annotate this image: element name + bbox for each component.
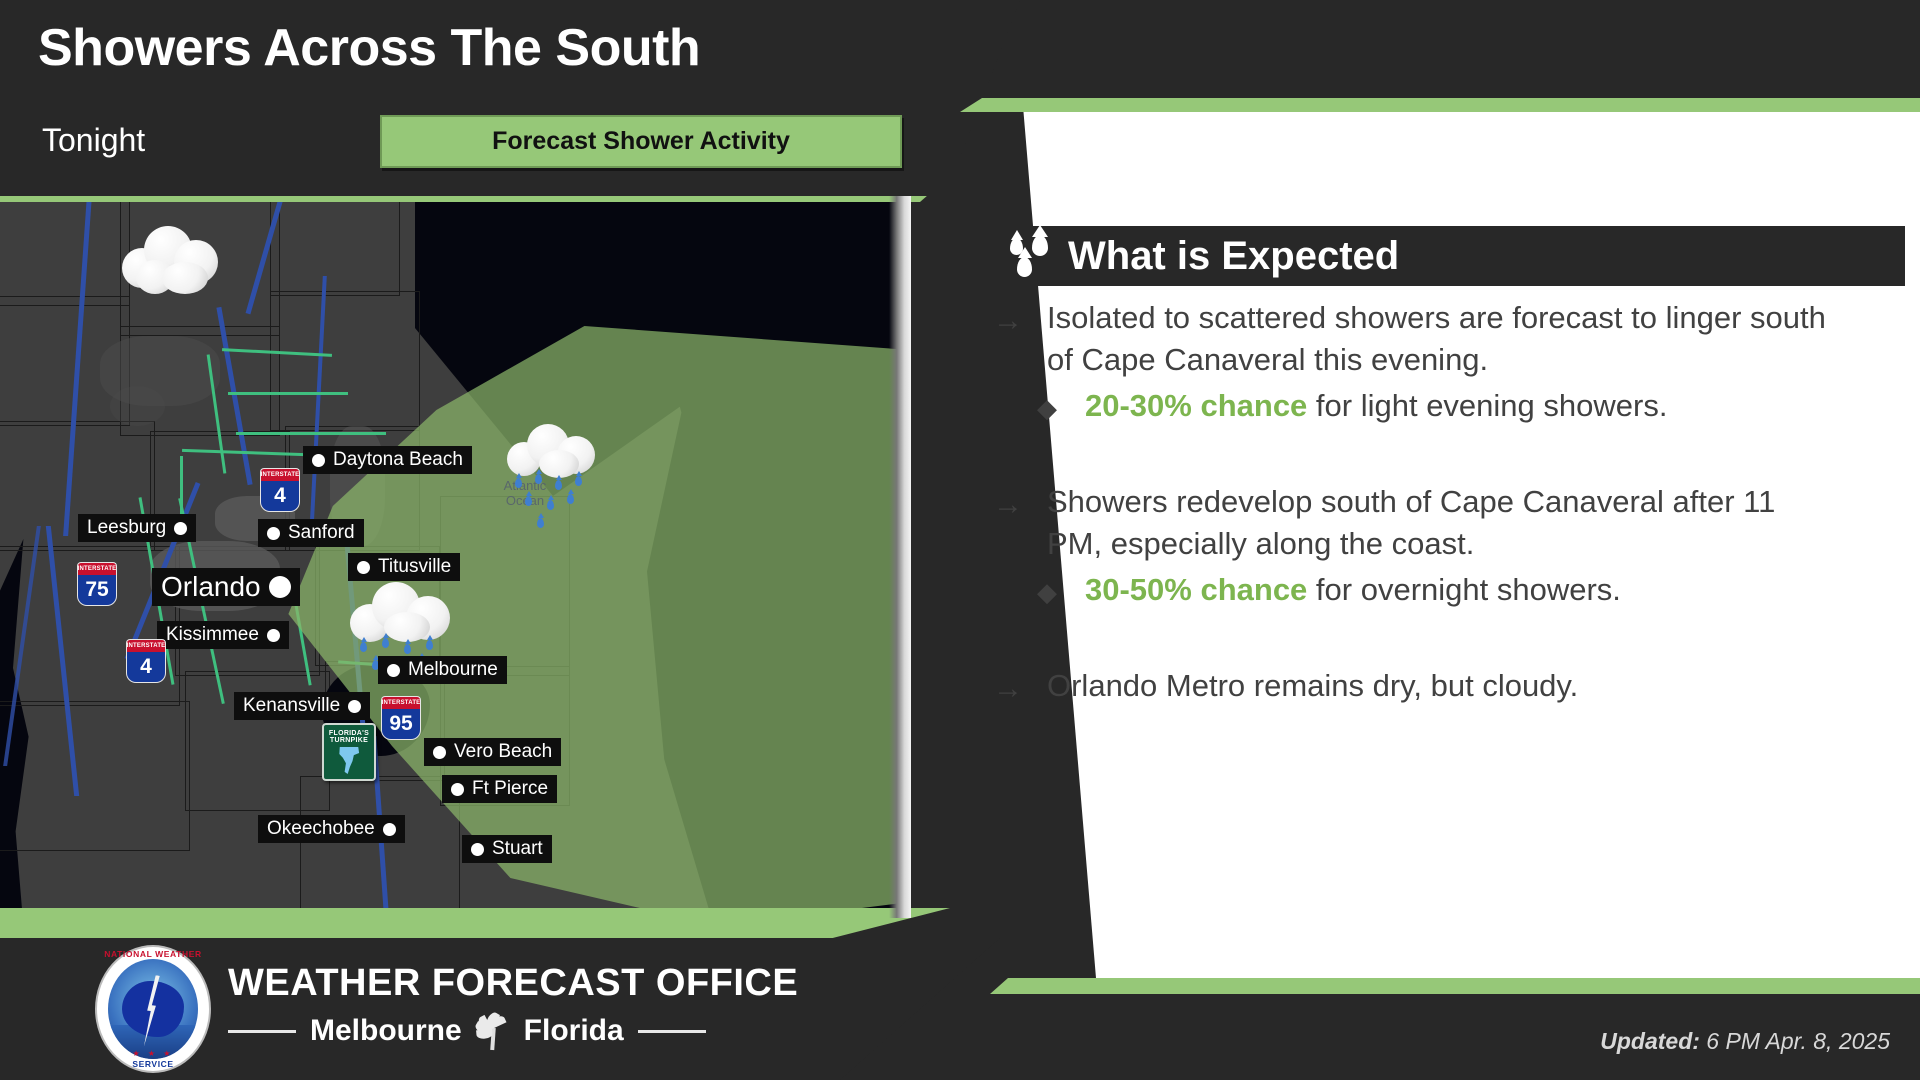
county-boundary: [270, 291, 420, 431]
expected-sub-bullet: ◆20-30% chance for light evening showers…: [993, 385, 1905, 429]
sub-bullet-text: 20-30% chance for light evening showers.: [1085, 385, 1667, 427]
rain-cloud-icon-okeechobee: [348, 574, 458, 652]
shield-banner: INTERSTATE: [126, 639, 166, 652]
cloud-icon-orlando: [118, 214, 228, 296]
county-boundary: [0, 196, 130, 306]
shield-banner: INTERSTATE: [77, 562, 117, 575]
city-label: Leesburg: [78, 514, 196, 542]
interstate-shield-95: INTERSTATE95: [379, 696, 423, 742]
shield-number: 4: [260, 481, 300, 512]
forecast-shower-activity-chip[interactable]: Forecast Shower Activity: [380, 115, 902, 168]
arrow-icon: →: [993, 297, 1047, 342]
page-title: Showers Across The South: [38, 18, 700, 78]
city-name: Vero Beach: [454, 741, 552, 763]
shield-number: 4: [126, 652, 166, 683]
city-marker-dot: [269, 576, 291, 598]
city-label: Orlando: [152, 568, 300, 606]
county-boundary: [0, 701, 190, 851]
toll-road-408: [228, 392, 348, 395]
city-name: Kissimmee: [166, 624, 259, 646]
office-city: Melbourne: [310, 1014, 462, 1048]
city-label: Kenansville: [234, 692, 370, 720]
city-marker-dot: [348, 700, 361, 713]
seal-bottom-text: SERVICE: [95, 1059, 211, 1069]
chance-percentage: 20-30% chance: [1085, 388, 1307, 423]
city-marker-dot: [267, 629, 280, 642]
turnpike-line-2: TURNPIKE: [330, 737, 368, 744]
lake-shading: [110, 386, 165, 426]
toll-road-528: [236, 432, 386, 435]
city-marker-dot: [387, 664, 400, 677]
office-location: Melbourne Florida: [228, 1012, 706, 1050]
city-label: Ft Pierce: [442, 775, 557, 803]
panel-green-top-bar: [960, 98, 1920, 112]
city-name: Daytona Beach: [333, 449, 463, 471]
interstate-shield-75: INTERSTATE75: [75, 562, 119, 608]
city-name: Leesburg: [87, 517, 166, 539]
shield-number: 95: [381, 709, 421, 740]
city-name: Orlando: [161, 571, 261, 603]
florida-turnpike-shield: FLORIDA'S TURNPIKE: [322, 723, 376, 781]
city-marker-dot: [383, 823, 396, 836]
shield-banner: INTERSTATE: [260, 468, 300, 481]
turnpike-line-1: FLORIDA'S: [329, 730, 369, 737]
shield-number: 75: [77, 575, 117, 606]
map-right-edge-shadow: [889, 196, 911, 918]
arrow-icon: →: [993, 665, 1047, 710]
shield-banner: INTERSTATE: [381, 696, 421, 709]
expected-bullet: →Isolated to scattered showers are forec…: [993, 297, 1905, 381]
diamond-icon: ◆: [1037, 569, 1085, 613]
city-name: Melbourne: [408, 659, 498, 681]
bullet-text: Orlando Metro remains dry, but cloudy.: [1047, 665, 1578, 707]
interstate-shield-4: INTERSTATE4: [258, 468, 302, 514]
city-label: Titusville: [348, 553, 460, 581]
city-label: Melbourne: [378, 656, 507, 684]
city-name: Sanford: [288, 522, 355, 544]
city-marker-dot: [357, 561, 370, 574]
diamond-icon: ◆: [1037, 385, 1085, 429]
forecast-chip-label: Forecast Shower Activity: [492, 127, 790, 156]
expected-bullet-list: →Isolated to scattered showers are forec…: [993, 297, 1905, 710]
what-is-expected-title: What is Expected: [1068, 236, 1399, 276]
office-state: Florida: [524, 1014, 624, 1048]
updated-timestamp: Updated: 6 PM Apr. 8, 2025: [1600, 1028, 1890, 1055]
divider-left: [228, 1030, 296, 1033]
divider-right: [638, 1030, 706, 1033]
city-label: Kissimmee: [157, 621, 289, 649]
city-marker-dot: [267, 527, 280, 540]
city-name: Kenansville: [243, 695, 340, 717]
bullet-spacer: [993, 613, 1905, 665]
city-label: Sanford: [258, 519, 364, 547]
city-label: Daytona Beach: [303, 446, 472, 474]
city-label: Stuart: [462, 835, 552, 863]
city-marker-dot: [451, 783, 464, 796]
palm-tree-icon: [476, 1012, 510, 1050]
interstate-shield-4: INTERSTATE4: [124, 639, 168, 685]
header-bar: Showers Across The South Tonight Forecas…: [0, 0, 960, 196]
city-label: Vero Beach: [424, 738, 561, 766]
florida-outline-icon: [338, 747, 360, 774]
office-title: WEATHER FORECAST OFFICE: [228, 962, 798, 1005]
city-name: Titusville: [378, 556, 451, 578]
raindrop-icon: [1008, 233, 1060, 279]
expected-sub-bullet: ◆30-50% chance for overnight showers.: [993, 569, 1905, 613]
raindrops: [505, 474, 605, 524]
city-name: Okeechobee: [267, 818, 375, 840]
updated-label: Updated:: [1600, 1028, 1700, 1054]
bullet-text: Showers redevelop south of Cape Canavera…: [1047, 481, 1837, 565]
seal-stars: ★ ★ ★: [95, 1049, 211, 1058]
bullet-spacer: [993, 429, 1905, 481]
city-name: Stuart: [492, 838, 543, 860]
arrow-icon: →: [993, 481, 1047, 526]
city-name: Ft Pierce: [472, 778, 548, 800]
city-marker-dot: [433, 746, 446, 759]
city-marker-dot: [312, 454, 325, 467]
header-subtitle: Tonight: [42, 122, 145, 159]
rain-cloud-icon-coast: [505, 416, 605, 486]
bullet-text: Isolated to scattered showers are foreca…: [1047, 297, 1837, 381]
seal-top-text: NATIONAL WEATHER: [95, 949, 211, 959]
panel-green-bottom-bar: [990, 978, 1920, 994]
footer-green-bar: [0, 908, 950, 942]
expected-bullet: →Showers redevelop south of Cape Canaver…: [993, 481, 1905, 565]
county-boundary: [270, 196, 400, 296]
seal-emblem: [108, 959, 198, 1059]
city-marker-dot: [174, 522, 187, 535]
sub-bullet-text: 30-50% chance for overnight showers.: [1085, 569, 1621, 611]
city-label: Okeechobee: [258, 815, 405, 843]
city-marker-dot: [471, 843, 484, 856]
updated-value: 6 PM Apr. 8, 2025: [1700, 1028, 1890, 1054]
chance-percentage: 30-50% chance: [1085, 572, 1307, 607]
weather-graphic: AtlanticOcean: [0, 0, 1920, 1080]
what-is-expected-header: What is Expected: [993, 226, 1905, 286]
nws-seal-logo: NATIONAL WEATHER ★ ★ ★ SERVICE: [95, 945, 211, 1073]
expected-bullet: →Orlando Metro remains dry, but cloudy.: [993, 665, 1905, 710]
